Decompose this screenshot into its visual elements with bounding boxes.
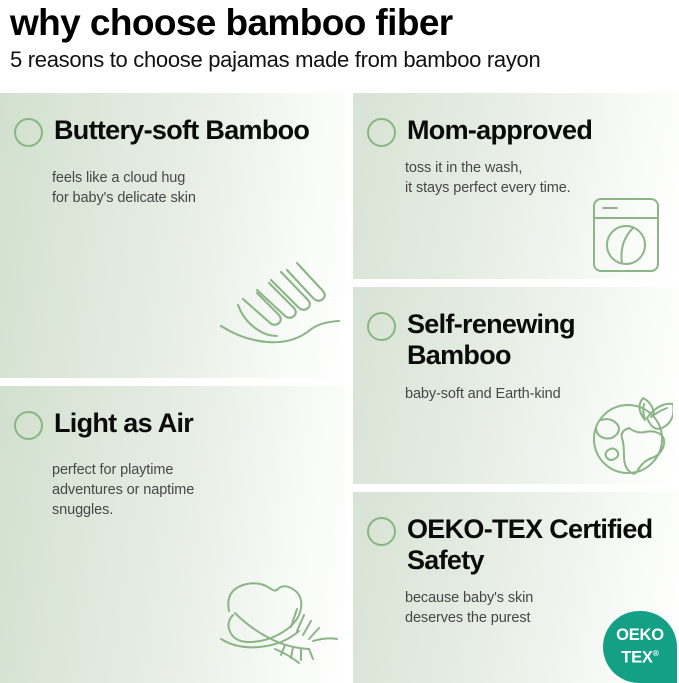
header: why choose bamboo fiber 5 reasons to cho…: [0, 0, 679, 85]
bullet-ring-icon: [367, 312, 396, 341]
card-light-as-air: Light as Air perfect for playtime advent…: [0, 386, 345, 683]
card-title: Self-renewing Bamboo: [407, 309, 661, 371]
oeko-badge-tex-text: TEX: [621, 649, 653, 667]
card-heading-row: Light as Air: [14, 408, 327, 440]
card-title: Light as Air: [54, 408, 193, 439]
card-heading-row: Self-renewing Bamboo: [367, 309, 661, 371]
card-heading-row: Mom-approved: [367, 115, 661, 147]
card-gap: [353, 279, 679, 287]
bullet-ring-icon: [367, 118, 396, 147]
card-body-text: toss it in the wash, it stays perfect ev…: [405, 158, 661, 198]
bullet-ring-icon: [14, 411, 43, 440]
card-heading-row: OEKO-TEX Certified Safety: [367, 514, 661, 576]
washing-machine-icon: [589, 195, 663, 275]
card-self-renewing-bamboo: Self-renewing Bamboo baby-soft and Earth…: [353, 287, 679, 484]
card-mom-approved: Mom-approved toss it in the wash, it sta…: [353, 93, 679, 279]
feather-icon: [213, 573, 341, 673]
card-buttery-soft-bamboo: Buttery-soft Bamboo feels like a cloud h…: [0, 93, 345, 378]
card-title: Buttery-soft Bamboo: [54, 115, 309, 146]
left-column: Buttery-soft Bamboo feels like a cloud h…: [0, 93, 345, 683]
card-title: Mom-approved: [407, 115, 592, 146]
card-body-text: feels like a cloud hug for baby's delica…: [52, 168, 327, 208]
oeko-badge-line2: TEX®: [621, 644, 659, 667]
oeko-badge-line1: OEKO: [616, 627, 664, 644]
oeko-tex-badge: OEKO TEX®: [603, 611, 677, 683]
page-title: why choose bamboo fiber: [10, 2, 671, 44]
card-title: OEKO-TEX Certified Safety: [407, 514, 661, 576]
card-gap: [0, 378, 345, 386]
card-oeko-tex-certified-safety: OEKO-TEX Certified Safety because baby's…: [353, 492, 679, 683]
bullet-ring-icon: [367, 517, 396, 546]
card-gap: [353, 484, 679, 492]
registered-trademark-icon: ®: [653, 648, 659, 658]
page-subtitle: 5 reasons to choose pajamas made from ba…: [10, 46, 671, 74]
bullet-ring-icon: [14, 118, 43, 147]
infographic-root: why choose bamboo fiber 5 reasons to cho…: [0, 0, 679, 683]
card-body-text: baby-soft and Earth-kind: [405, 384, 661, 404]
card-heading-row: Buttery-soft Bamboo: [14, 115, 327, 147]
right-column: Mom-approved toss it in the wash, it sta…: [353, 93, 679, 683]
hand-touching-fabric-icon: [217, 252, 343, 356]
card-body-text: perfect for playtime adventures or napti…: [52, 460, 327, 520]
